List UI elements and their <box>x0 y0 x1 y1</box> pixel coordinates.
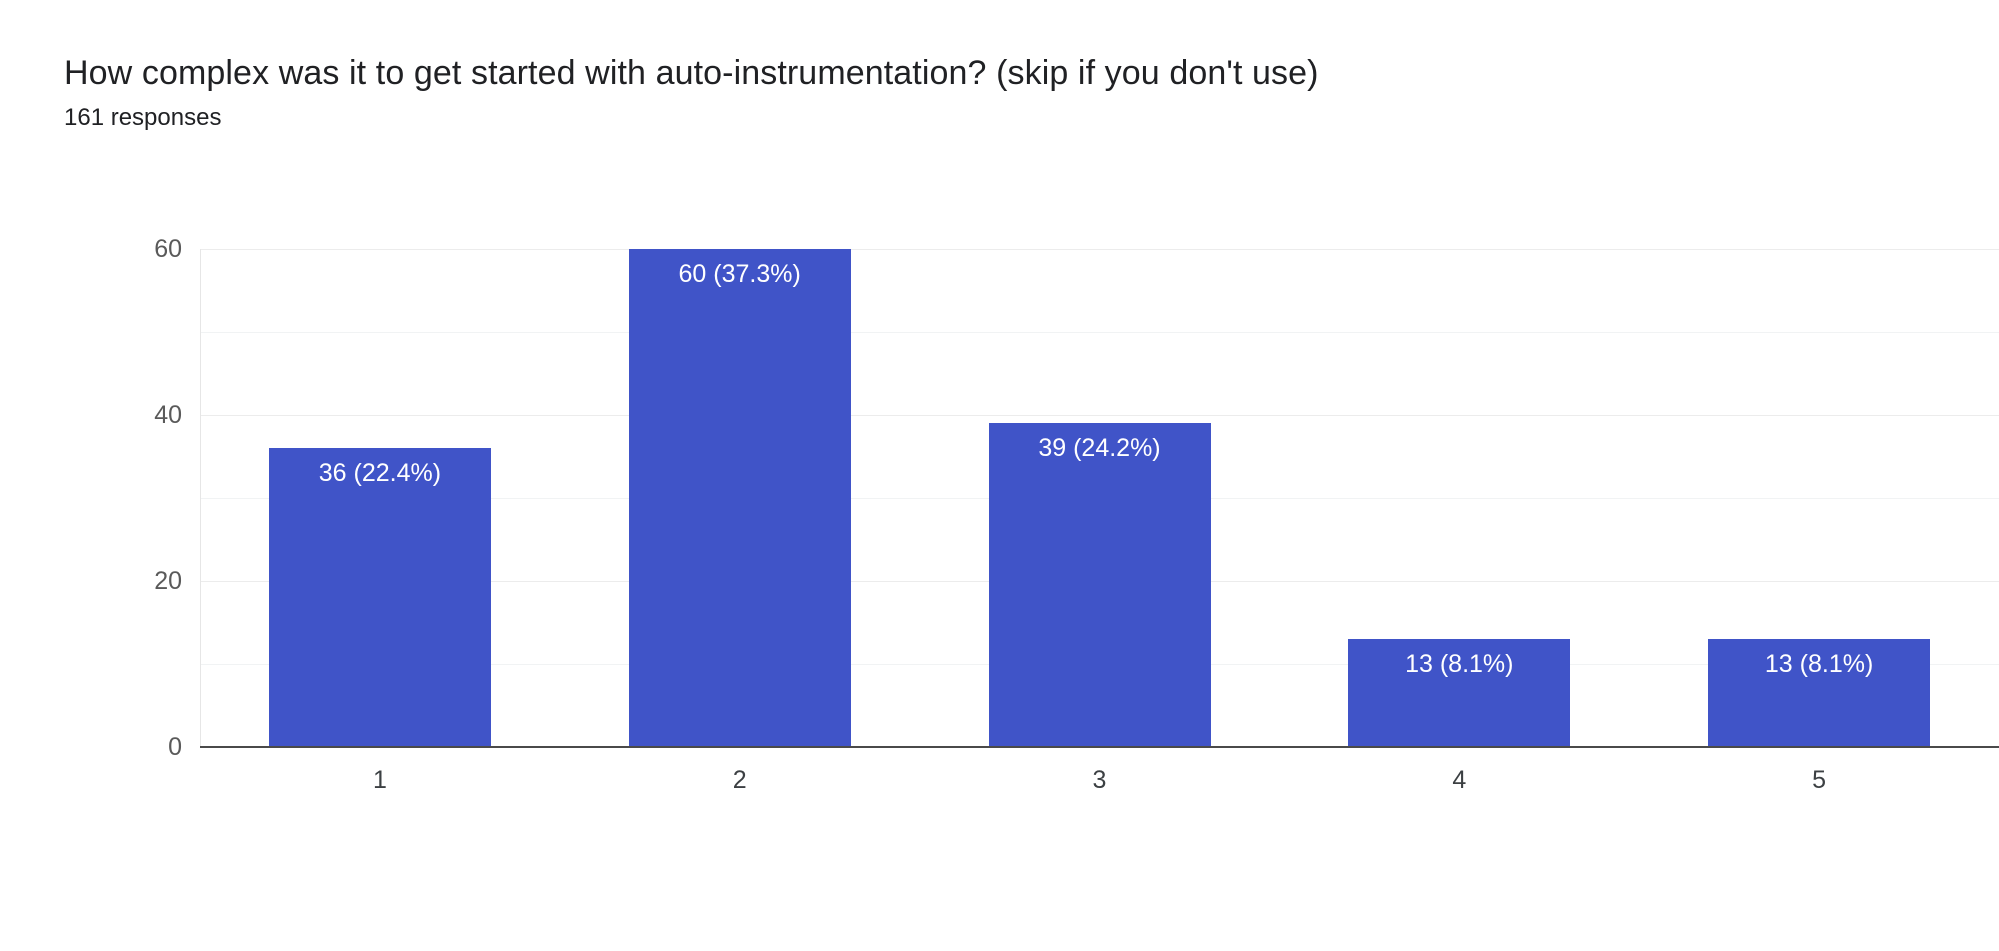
bar-value-label: 36 (22.4%) <box>269 458 491 488</box>
x-axis-tick-label: 3 <box>1000 765 1200 795</box>
x-axis-tick-label: 5 <box>1719 765 1919 795</box>
bar-chart: 36 (22.4%)60 (37.3%)39 (24.2%)13 (8.1%)1… <box>0 0 1999 951</box>
bar-2[interactable]: 60 (37.3%) <box>629 249 851 747</box>
y-axis-tick-label: 0 <box>62 735 182 760</box>
gridline-major <box>200 415 1999 416</box>
bar-value-label: 13 (8.1%) <box>1348 649 1570 679</box>
gridline-major <box>200 249 1999 250</box>
bar-value-label: 60 (37.3%) <box>629 259 851 289</box>
x-axis-tick-label: 4 <box>1359 765 1559 795</box>
bar-1[interactable]: 36 (22.4%) <box>269 448 491 747</box>
bar-5[interactable]: 13 (8.1%) <box>1708 639 1930 747</box>
x-axis-tick-label: 1 <box>280 765 480 795</box>
bar-value-label: 13 (8.1%) <box>1708 649 1930 679</box>
y-axis-line <box>200 249 201 748</box>
bar-3[interactable]: 39 (24.2%) <box>989 423 1211 747</box>
y-axis-tick-label: 20 <box>62 569 182 594</box>
bar-4[interactable]: 13 (8.1%) <box>1348 639 1570 747</box>
gridline-minor <box>200 332 1999 333</box>
bar-value-label: 39 (24.2%) <box>989 433 1211 463</box>
x-axis-line <box>200 746 1999 748</box>
plot-area: 36 (22.4%)60 (37.3%)39 (24.2%)13 (8.1%)1… <box>200 249 1999 747</box>
y-axis-tick-label: 40 <box>62 403 182 428</box>
x-axis-tick-label: 2 <box>640 765 840 795</box>
y-axis-tick-label: 60 <box>62 237 182 262</box>
